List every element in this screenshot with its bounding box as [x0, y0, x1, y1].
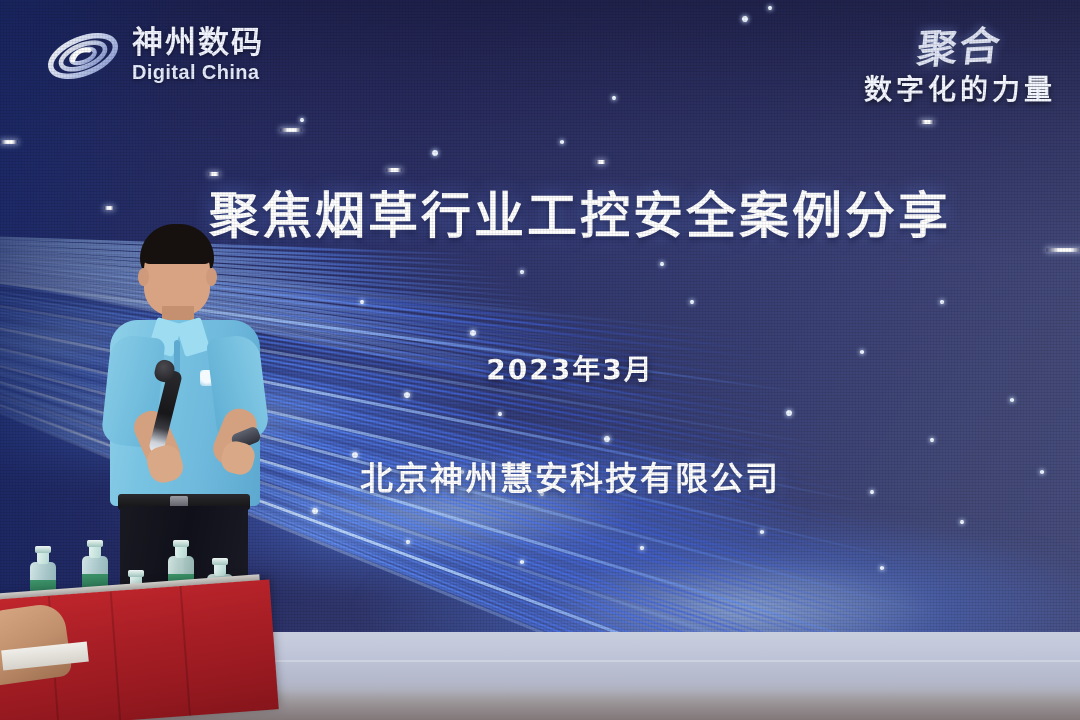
speaker-hair-front: [141, 232, 213, 264]
slogan-calligraphy: 聚合: [914, 10, 1059, 75]
event-slogan: 聚合 数字化的力量: [786, 14, 1056, 124]
brand-name-en: Digital China: [132, 63, 264, 83]
speaker-ear-left: [138, 268, 149, 286]
brand-logo: 神州数码 Digital China: [44, 20, 304, 92]
swirl-spiral-icon: [44, 25, 122, 87]
speaker-ear-right: [206, 268, 217, 286]
brand-name-cn: 神州数码: [132, 28, 264, 59]
stage-photo: 神州数码 Digital China 聚合 数字化的力量 聚焦烟草行业工控安全案…: [0, 0, 1080, 720]
